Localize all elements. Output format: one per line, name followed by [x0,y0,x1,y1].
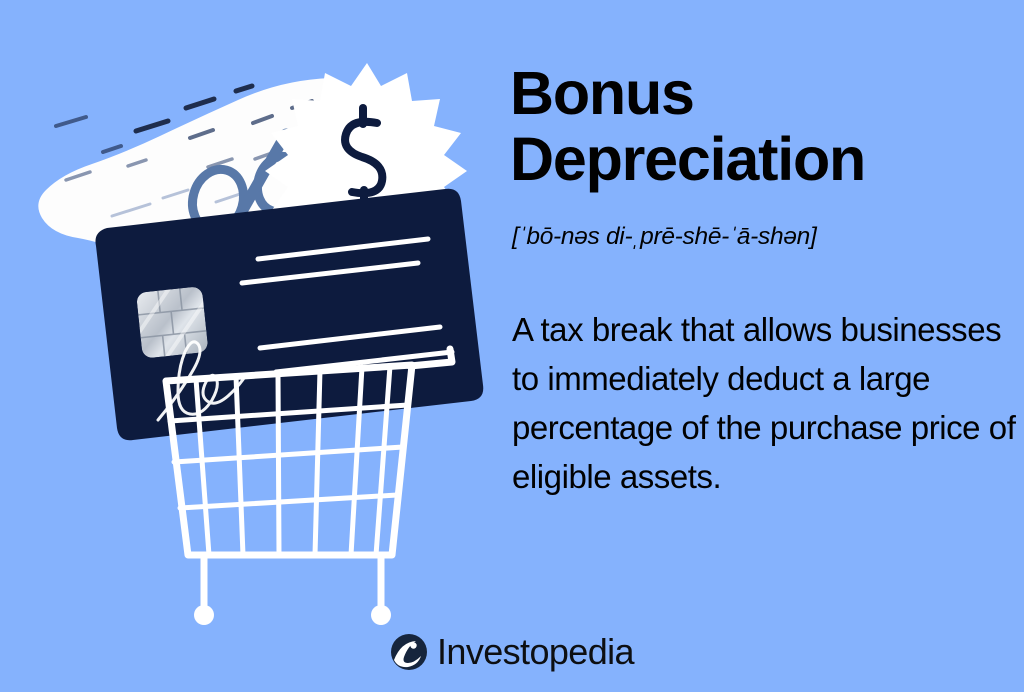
illustration [0,0,500,630]
pronunciation: [ˈbō-nəs di-ˌprē-shē-ˈā-shən] [512,222,1012,252]
brand-name: Investopedia [437,634,634,670]
definition-text: A tax break that allows businesses to im… [512,305,1017,501]
credit-card [95,189,483,441]
text-column: Bonus Depreciation [ˈbō-nəs di-ˌprē-shē-… [510,0,1010,620]
infographic-card: Bonus Depreciation [ˈbō-nəs di-ˌprē-shē-… [0,0,1024,692]
investopedia-logo-icon [390,633,428,671]
page-title: Bonus Depreciation [510,60,1010,192]
brand-logo: Investopedia [0,624,1024,680]
cart-wheel-left [194,605,214,625]
cart-wheel-right [371,605,391,625]
